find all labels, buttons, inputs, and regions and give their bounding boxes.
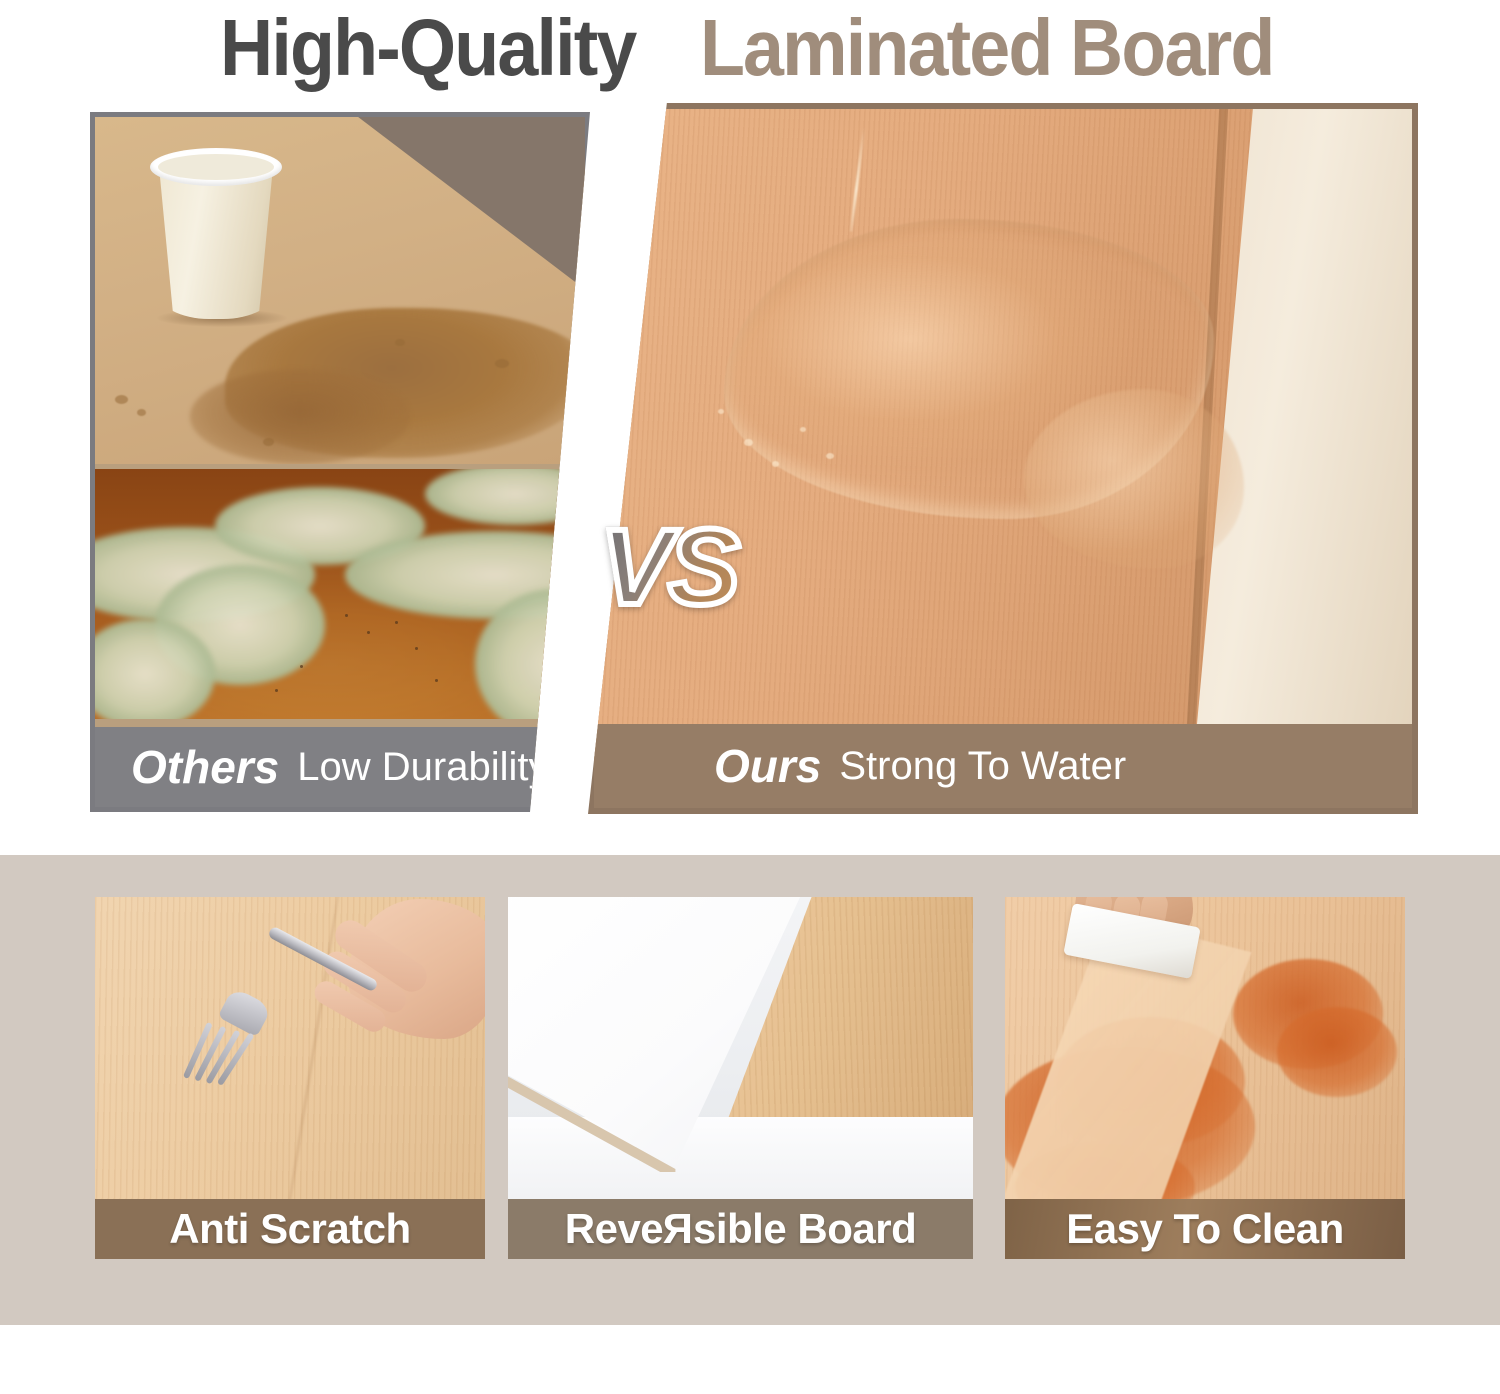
mold-patch [425, 469, 585, 525]
ours-caption-bar: Ours Strong To Water [594, 724, 1412, 808]
spill-photo [95, 117, 585, 464]
reversible-board-label-bar: ReveRsible Board [508, 1199, 973, 1259]
water-runoff [1024, 389, 1244, 569]
feature-label-easy-to-clean: Easy To Clean [1066, 1208, 1344, 1250]
others-caption-bar: Others Low Durability [95, 727, 585, 807]
cup-interior [158, 154, 274, 180]
title-part-dark: High-Quality [220, 8, 635, 88]
ours-panel: Ours Strong To Water [588, 103, 1418, 814]
title-part-tan: Laminated Board [700, 8, 1274, 88]
coffee-puddle-secondary [190, 369, 410, 464]
page-title: High-Quality Laminated Board [0, 0, 1500, 95]
infographic-page: High-Quality Laminated Board [0, 0, 1500, 1394]
water-bead [800, 427, 806, 432]
anti-scratch-photo [95, 897, 485, 1199]
droplet [495, 359, 509, 368]
others-panel: Others Low Durability [90, 112, 590, 812]
water-beading-photo [594, 109, 1412, 724]
shelf-surface [508, 1117, 973, 1199]
reversible-board-photo [508, 897, 973, 1199]
easy-to-clean-photo [1005, 897, 1405, 1199]
vs-badge: VS [600, 513, 736, 621]
sauce-stain [1277, 1007, 1397, 1097]
droplet [395, 339, 405, 346]
background-corner [345, 117, 585, 297]
droplet [115, 395, 128, 404]
features-section: Anti Scratch ReveRsible Board [0, 855, 1500, 1325]
water-bead [772, 461, 779, 467]
water-bead [718, 409, 724, 414]
droplet [263, 438, 274, 446]
feature-card-easy-to-clean: Easy To Clean [1005, 897, 1405, 1259]
feature-card-anti-scratch: Anti Scratch [95, 897, 485, 1259]
others-desc-label: Low Durability [297, 747, 548, 787]
feature-card-reversible-board: ReveRsible Board [508, 897, 973, 1259]
feature-label-anti-scratch: Anti Scratch [169, 1208, 410, 1250]
feature-label-reversible-board: ReveRsible Board [565, 1208, 916, 1250]
others-name-label: Others [131, 744, 279, 790]
comparison-section: Others Low Durability [0, 95, 1500, 825]
easy-to-clean-label-bar: Easy To Clean [1005, 1199, 1405, 1259]
water-pour-streak [850, 127, 866, 232]
mold-photo [95, 469, 585, 719]
water-bead [826, 453, 834, 459]
water-bead [744, 439, 753, 446]
droplet [137, 409, 146, 416]
ours-desc-label: Strong To Water [839, 746, 1126, 786]
board-side-face [1197, 109, 1412, 724]
mirrored-r-glyph: R [663, 1208, 693, 1250]
ours-name-label: Ours [714, 743, 821, 789]
anti-scratch-label-bar: Anti Scratch [95, 1199, 485, 1259]
